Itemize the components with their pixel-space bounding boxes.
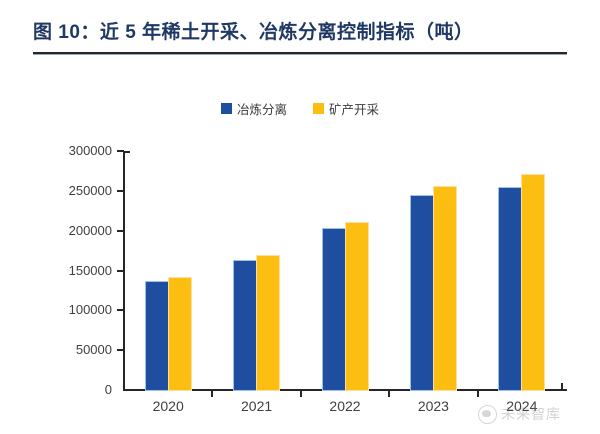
y-axis-tick-label: 0	[105, 382, 112, 397]
y-axis-tick	[117, 309, 124, 311]
y-axis-tick-label: 50000	[76, 342, 112, 357]
x-axis-tick	[300, 391, 302, 397]
bar-2022-冶炼分离	[323, 229, 345, 390]
y-axis-tick-label: 250000	[69, 183, 112, 198]
x-axis-tick-label: 2022	[305, 398, 385, 414]
x-axis-tick-label: 2020	[128, 398, 208, 414]
y-axis-tick	[117, 349, 124, 351]
bar-2020-冶炼分离	[146, 282, 168, 390]
x-axis-tick-label: 2021	[217, 398, 297, 414]
bar-2023-冶炼分离	[411, 196, 433, 390]
x-axis-tick-label: 2024	[482, 398, 562, 414]
x-axis-tick-label: 2023	[393, 398, 473, 414]
bar-2021-矿产开采	[257, 256, 279, 390]
x-axis-tick	[211, 391, 213, 397]
y-axis-tick	[117, 230, 124, 232]
y-axis-tick	[117, 270, 124, 272]
bar-2024-冶炼分离	[499, 188, 521, 390]
bar-2024-矿产开采	[522, 175, 544, 390]
y-axis-tick	[117, 190, 124, 192]
y-axis-tick-label: 150000	[69, 263, 112, 278]
bar-2021-冶炼分离	[234, 261, 256, 390]
bar-2023-矿产开采	[434, 187, 456, 390]
y-axis-tick-label: 200000	[69, 223, 112, 238]
x-axis-tick	[388, 391, 390, 397]
x-axis-tick	[477, 391, 479, 397]
bars-container	[124, 151, 566, 390]
bar-2020-矿产开采	[169, 278, 191, 390]
bar-2022-矿产开采	[346, 223, 368, 390]
y-axis-tick-label: 300000	[69, 143, 112, 158]
y-axis-tick	[117, 150, 124, 152]
y-axis-tick-label: 100000	[69, 302, 112, 317]
chart-plot: 050000100000150000200000250000300000 202…	[0, 0, 600, 434]
